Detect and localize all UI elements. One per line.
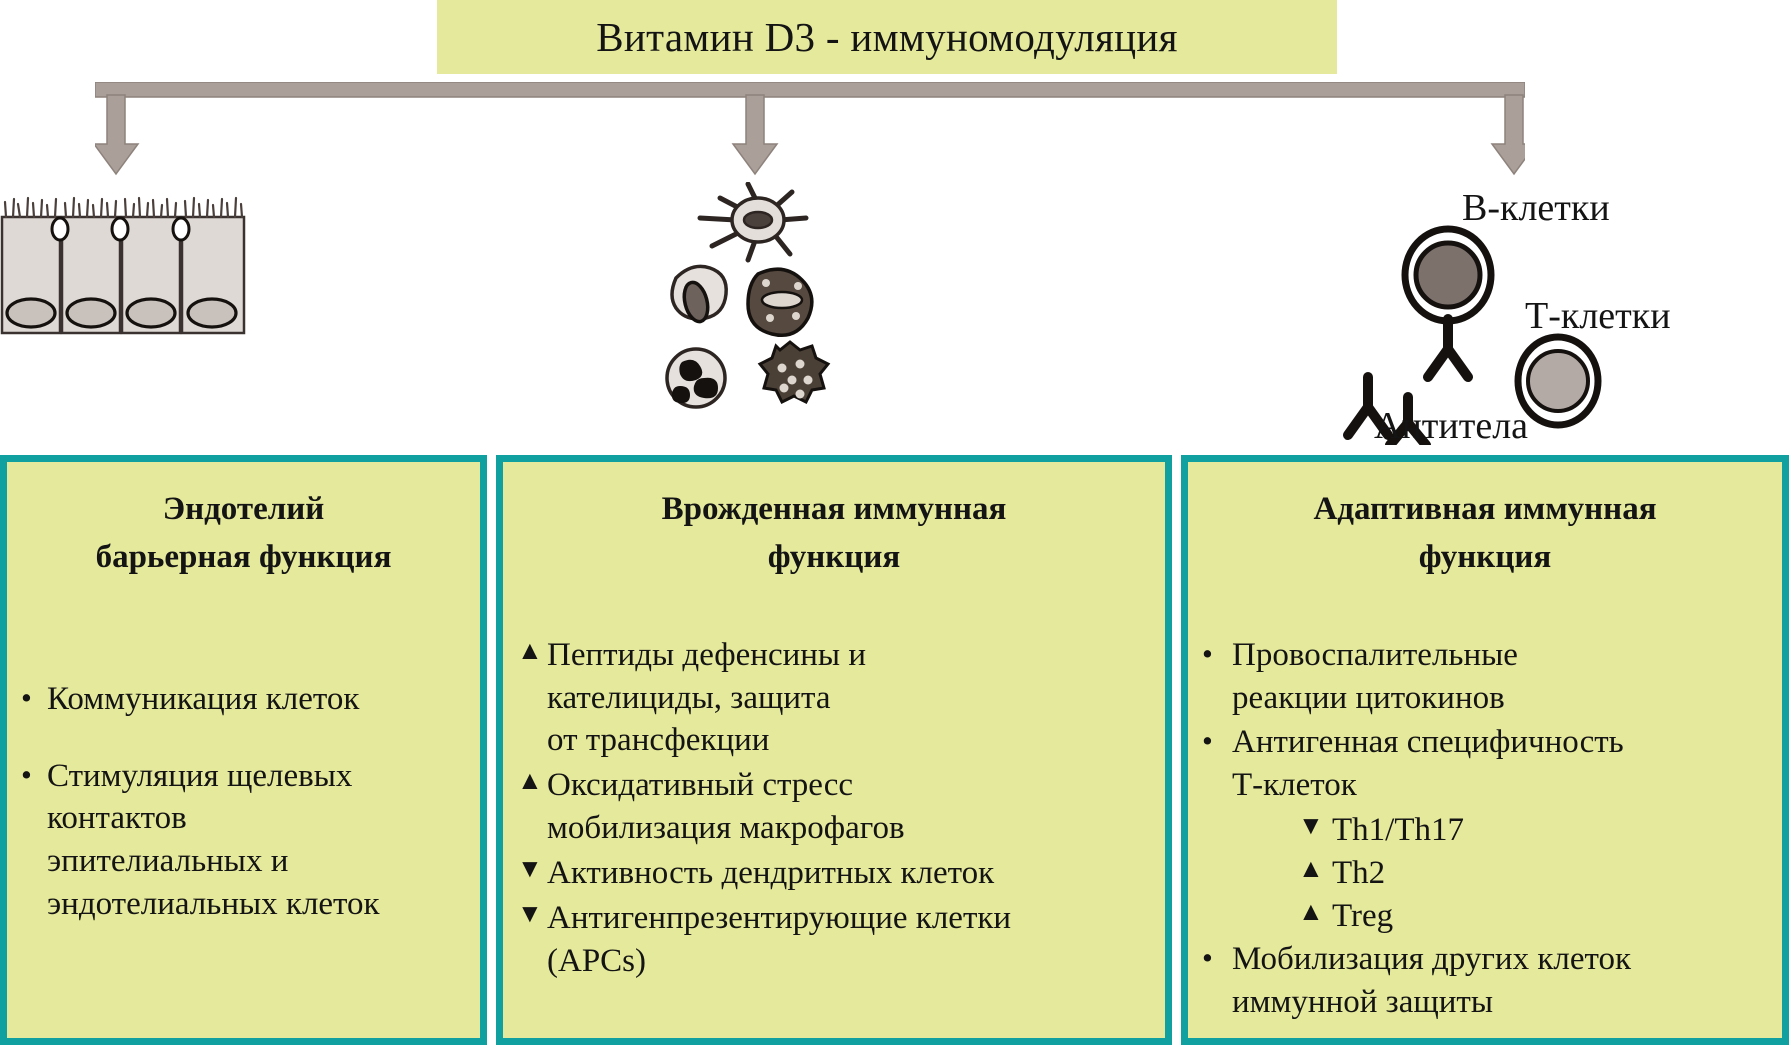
panel-body-endothelium: • Коммуникация клеток • Стимуляция щелев… (21, 678, 466, 926)
sub-list-item-text: Th1/Th17 (1332, 809, 1768, 852)
list-item: • Провоспалительные реакции цитокинов (1202, 634, 1768, 720)
sub-list-item-text: Treg (1332, 895, 1768, 938)
activated-macrophage-icon (760, 342, 828, 402)
list-item: ▼ Активность дендритных клеток (517, 852, 1151, 895)
list-item: • Мобилизация других клеток иммунной защ… (1202, 938, 1768, 1024)
list-item: ▼ Антигенпрезентирующие клетки (APCs) (517, 897, 1151, 983)
diagram-title-box: Витамин D3 - иммуномодуляция (437, 0, 1337, 74)
triangle-down-icon: ▼ (517, 852, 547, 886)
panel-title-innate: Врожденная иммунная функция (517, 486, 1151, 582)
panel-title-line-2: функция (523, 534, 1145, 582)
panel-title-line-1: Врожденная иммунная (523, 486, 1145, 534)
sub-list-item: ▲ Th2 (1298, 852, 1768, 895)
bullet-dot-icon: • (1202, 721, 1232, 761)
bullet-dot-icon: • (21, 755, 47, 795)
page-title: Витамин D3 - иммуномодуляция (596, 13, 1178, 61)
list-item-text: Мобилизация других клеток иммунной защит… (1232, 938, 1768, 1024)
list-item-text: Пептиды дефенсины и кателициды, защита о… (547, 634, 1151, 763)
t-cell-label: Т-клетки (1525, 294, 1671, 338)
bullet-dot-icon: • (1202, 938, 1232, 978)
sub-list-item-text: Th2 (1332, 852, 1768, 895)
panel-title-endothelium: Эндотелий барьерная функция (21, 486, 466, 582)
panel-body-adaptive: • Провоспалительные реакции цитокинов • … (1202, 634, 1768, 1024)
b-cell-icon (1405, 229, 1491, 321)
list-item-text: Антигенная специфичность Т-клеток (1232, 721, 1768, 807)
panel-innate-immune-function: Врожденная иммунная функция ▲ Пептиды де… (496, 455, 1172, 1045)
list-item-text: Провоспалительные реакции цитокинов (1232, 634, 1768, 720)
antibodies-label: Антитела (1374, 404, 1528, 448)
panel-endothelium-barrier: Эндотелий барьерная функция • Коммуникац… (0, 455, 487, 1045)
triangle-up-icon: ▲ (1298, 895, 1332, 929)
t-cell-icon (1518, 337, 1598, 425)
panel-body-innate: ▲ Пептиды дефенсины и кателициды, защита… (517, 634, 1151, 983)
triangle-up-icon: ▲ (1298, 852, 1332, 886)
triangle-up-icon: ▲ (517, 634, 547, 668)
epithelial-cells-illustration (0, 195, 250, 335)
panel-title-line-1: Эндотелий (27, 486, 460, 534)
innate-immune-cells-illustration (640, 182, 870, 422)
panel-adaptive-immune-function: Адаптивная иммунная функция • Провоспали… (1181, 455, 1789, 1045)
list-item-text: Стимуляция щелевых контактов эпителиальн… (47, 755, 466, 927)
sub-list-item: ▲ Treg (1298, 895, 1768, 938)
triangle-down-icon: ▼ (1298, 809, 1332, 843)
sub-list-item: ▼ Th1/Th17 (1298, 809, 1768, 852)
neutrophil-icon (667, 349, 725, 407)
panel-title-adaptive: Адаптивная иммунная функция (1202, 486, 1768, 582)
bullet-dot-icon: • (21, 678, 47, 718)
triangle-up-icon: ▲ (517, 764, 547, 798)
list-item: ▲ Пептиды дефенсины и кателициды, защита… (517, 634, 1151, 763)
b-cell-label: В-клетки (1462, 186, 1610, 230)
list-item: • Антигенная специфичность Т-клеток (1202, 721, 1768, 807)
panel-title-line-1: Адаптивная иммунная (1208, 486, 1762, 534)
function-panels: Эндотелий барьерная функция • Коммуникац… (0, 455, 1789, 1045)
panel-title-line-2: функция (1208, 534, 1762, 582)
triangle-down-icon: ▼ (517, 897, 547, 931)
list-item-text: Активность дендритных клеток (547, 852, 1151, 895)
diagram-canvas: Витамин D3 - иммуномодуляция (0, 0, 1789, 1045)
bullet-dot-icon: • (1202, 634, 1232, 674)
panel-title-line-2: барьерная функция (27, 534, 460, 582)
antibody-icon (1428, 319, 1468, 377)
macrophage-icon (748, 269, 812, 335)
list-item: • Коммуникация клеток (21, 678, 466, 721)
branching-arrow-connector (95, 82, 1525, 192)
dendritic-cell-icon (700, 184, 806, 260)
lymphocyte-icon (672, 266, 726, 324)
list-item-text: Коммуникация клеток (47, 678, 466, 721)
list-item: • Стимуляция щелевых контактов эпителиал… (21, 755, 466, 927)
list-item-text: Антигенпрезентирующие клетки (APCs) (547, 897, 1151, 983)
list-item: ▲ Оксидативный стресс мобилизация макроф… (517, 764, 1151, 850)
list-item-text: Оксидативный стресс мобилизация макрофаг… (547, 764, 1151, 850)
